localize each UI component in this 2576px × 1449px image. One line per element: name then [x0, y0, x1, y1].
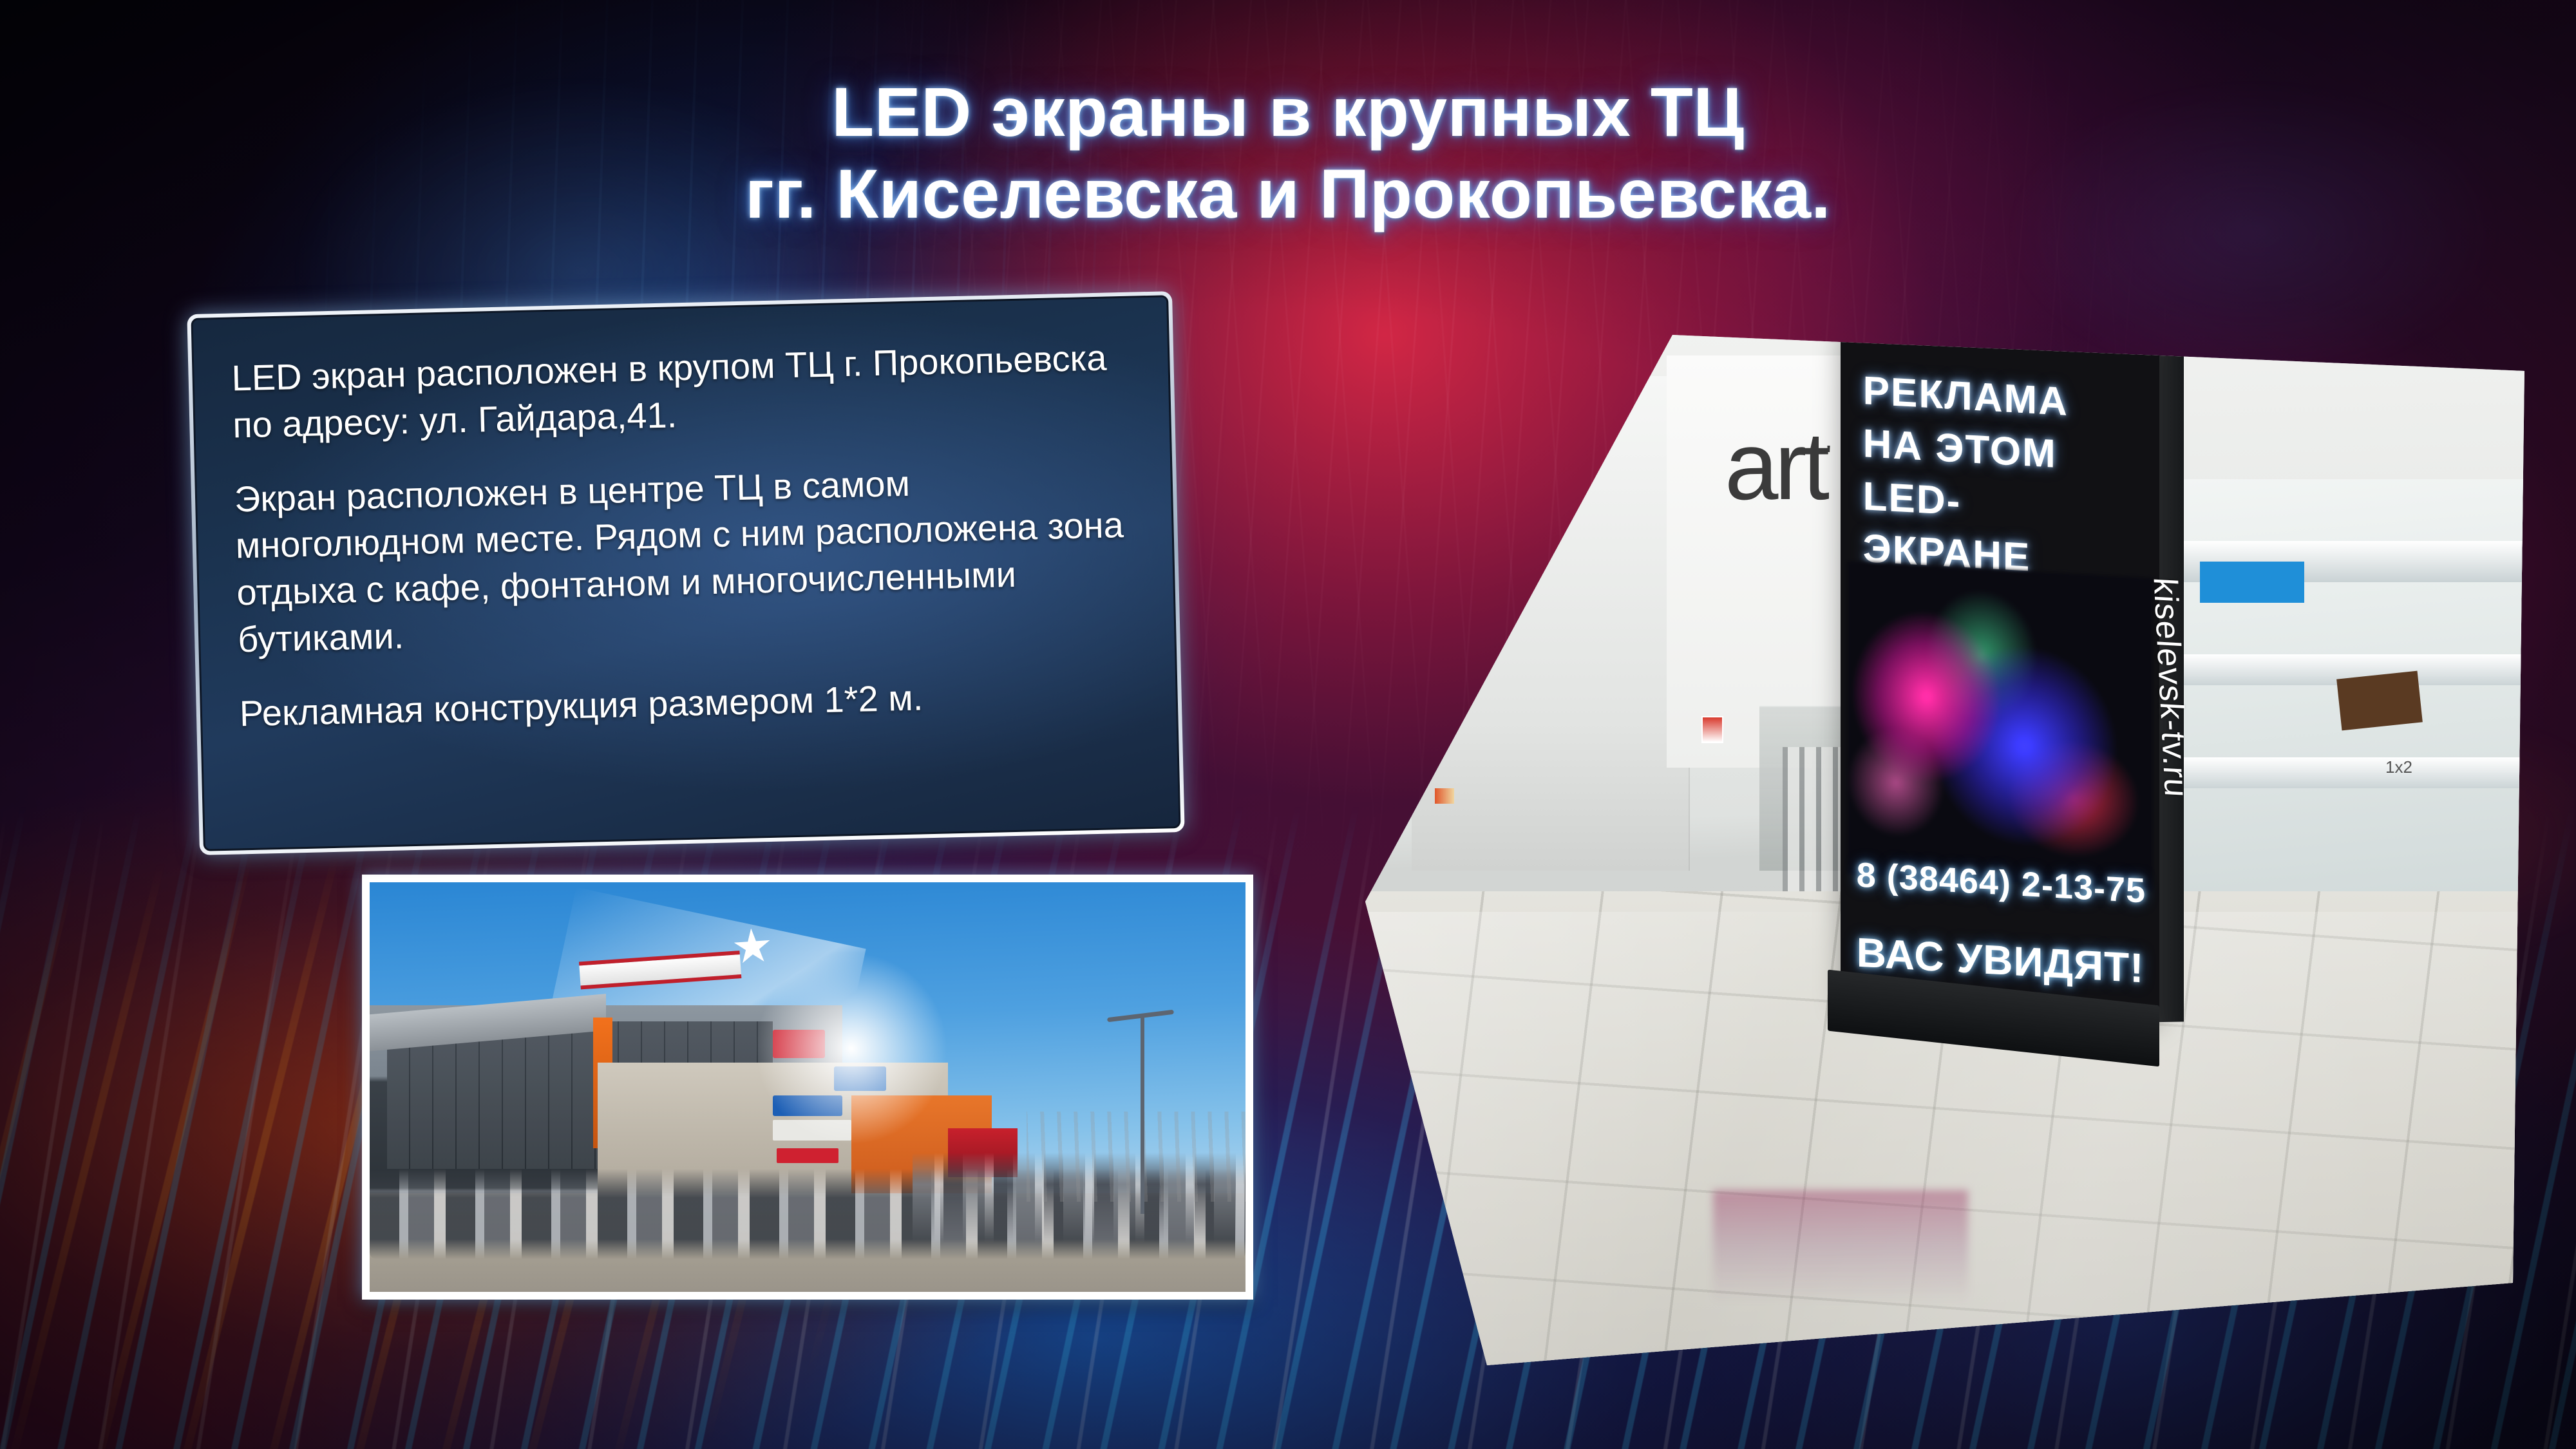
- mall-street-lamp: [1141, 1018, 1144, 1214]
- title-line-2: гг. Киселевска и Прокопьевска.: [451, 153, 2125, 234]
- interior-art-store-sign-text: art: [1725, 412, 1826, 520]
- description-paragraph-1: LED экран расположен в крупом ТЦ г. Прок…: [231, 334, 1128, 449]
- interior-art-store-sign: art': [1725, 417, 1828, 514]
- mall-exterior-photo: [362, 875, 1253, 1300]
- fire-extinguisher-icon: [1701, 716, 1723, 743]
- interior-right-shelf-3: [2177, 757, 2524, 788]
- interior-shelf-label: 1x2: [2385, 757, 2412, 777]
- description-paragraph-2: Экран расположен в центре ТЦ в самом мно…: [234, 455, 1133, 663]
- interior-right-product-box: [2336, 671, 2423, 731]
- mall-roof-logo: [576, 909, 759, 1028]
- led-kiosk-nebula-graphic: [1847, 561, 2153, 891]
- description-panel-inner: LED экран расположен в крупом ТЦ г. Прок…: [191, 295, 1180, 851]
- presentation-slide: LED экраны в крупных ТЦ гг. Киселевска и…: [0, 0, 2576, 1449]
- wall-notice-icon: [1435, 788, 1454, 804]
- page-title: LED экраны в крупных ТЦ гг. Киселевска и…: [451, 71, 2125, 235]
- interior-right-blue-sign: [2200, 562, 2304, 603]
- mall-sun-flare: [755, 952, 948, 1145]
- mall-storefront-sign-red-2: [777, 1148, 838, 1162]
- led-advertising-kiosk: РЕКЛАМА НА ЭТОМ LED- ЭКРАНЕ 8 (38464) 2-…: [1841, 335, 2159, 1014]
- description-paragraph-3: Рекламная конструкция размером 1*2 м.: [239, 669, 1135, 737]
- description-panel: LED экран расположен в крупом ТЦ г. Прок…: [187, 291, 1184, 855]
- interior-floor-reflection: [1713, 1190, 1968, 1303]
- interior-art-store-sign-mark: ': [1826, 439, 1828, 473]
- led-kiosk-headline: РЕКЛАМА НА ЭТОМ LED- ЭКРАНЕ: [1863, 365, 2137, 591]
- mall-logo-bar: [579, 951, 742, 989]
- led-kiosk-screen: РЕКЛАМА НА ЭТОМ LED- ЭКРАНЕ 8 (38464) 2-…: [1841, 335, 2159, 1014]
- title-line-1: LED экраны в крупных ТЦ: [451, 71, 2125, 153]
- led-kiosk-website-url: kiselevsk-tv.ru: [2161, 429, 2180, 947]
